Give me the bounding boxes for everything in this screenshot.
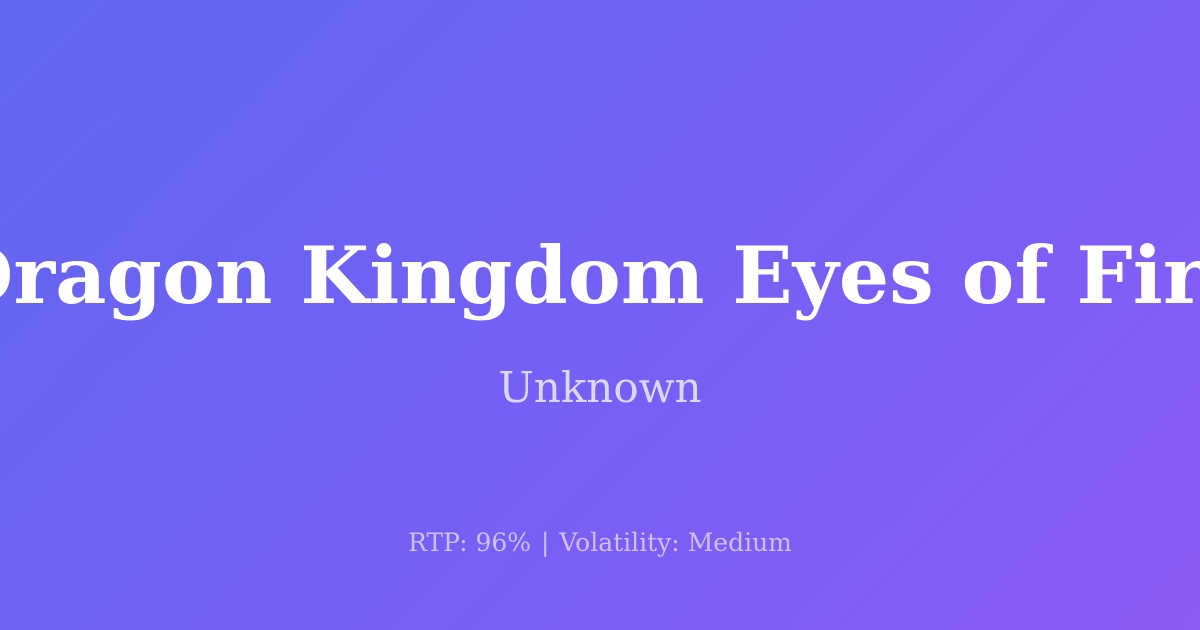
rtp-label: RTP: (408, 528, 467, 557)
volatility-value: Medium (688, 528, 792, 557)
rtp-value: 96% (475, 528, 531, 557)
title-container: Dragon Kingdom Eyes of Fire (0, 228, 1200, 324)
game-meta-line: RTP: 96% | Volatility: Medium (0, 528, 1200, 558)
og-share-card: Dragon Kingdom Eyes of Fire Unknown RTP:… (0, 0, 1200, 630)
meta-separator: | (539, 528, 551, 557)
volatility-label: Volatility: (559, 528, 679, 557)
page-title: Dragon Kingdom Eyes of Fire (0, 228, 1200, 324)
game-provider-subtitle: Unknown (0, 362, 1200, 414)
